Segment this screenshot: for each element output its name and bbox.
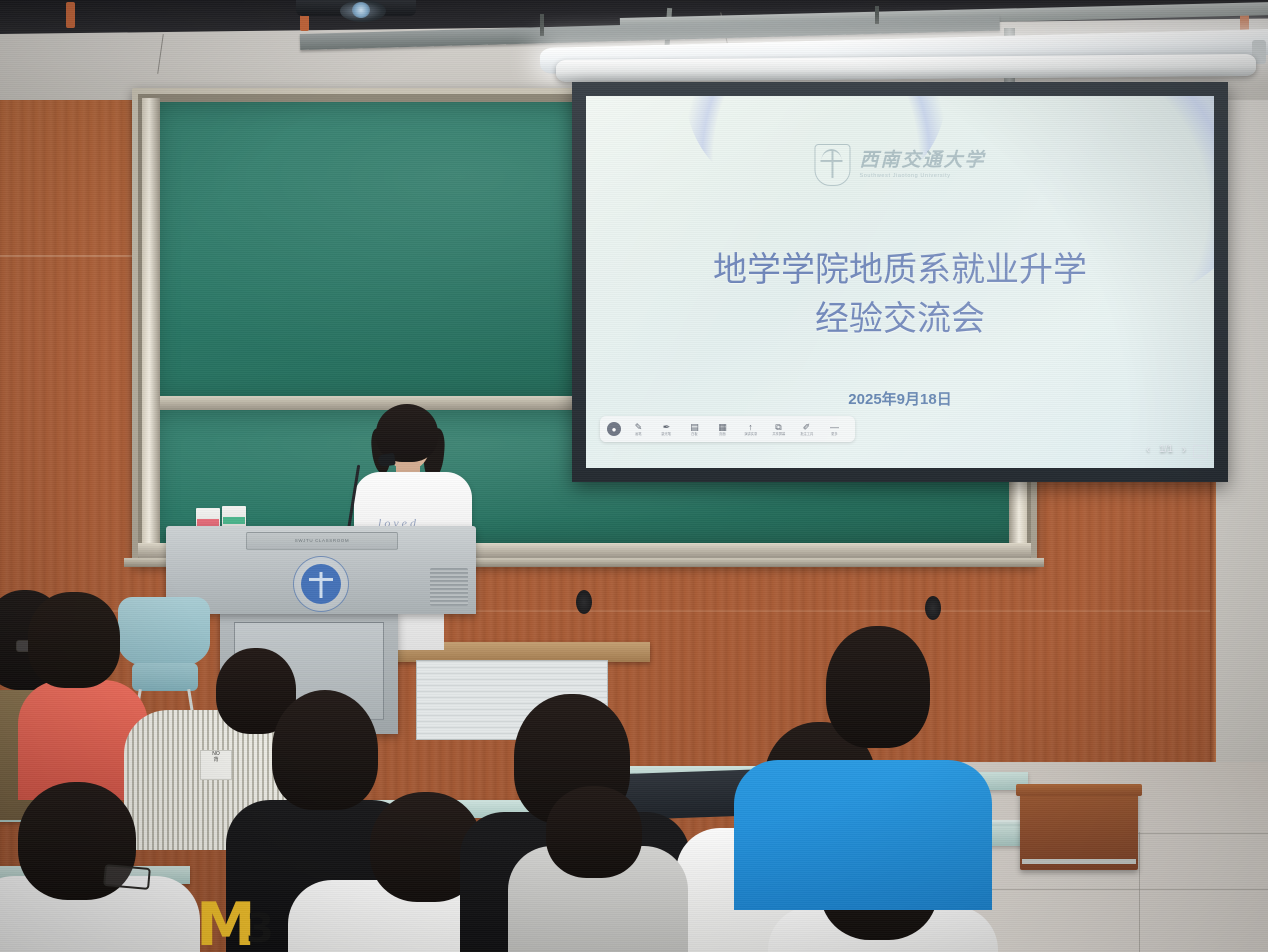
laser-pointer-icon: ✒ <box>663 422 671 432</box>
toolbar-label-4: 演讲实录 <box>744 432 757 436</box>
student-head <box>826 626 930 748</box>
student-tag: NO背 <box>200 750 232 780</box>
projector-glow <box>352 2 370 18</box>
chalk-box-band <box>197 519 219 526</box>
share-screen-icon: ⧉ <box>775 422 781 432</box>
chalk-box <box>222 506 246 528</box>
pages-icon: ▦ <box>718 422 727 432</box>
slide-title-line1: 地学学院地质系就业升学 <box>586 246 1214 295</box>
student-head <box>28 592 120 688</box>
wall-speaker-icon <box>576 590 592 614</box>
pen-icon: ✎ <box>635 422 643 432</box>
rail-hanger <box>875 6 879 24</box>
student-head <box>546 786 642 878</box>
presentation-toolbar[interactable]: ● ✎ 画笔 ✒ 激光笔 ▤ 白板 ▦ 页面 ↑ <box>600 416 855 442</box>
toolbar-item-6[interactable]: ✐ 批注工具 <box>793 422 820 436</box>
chair-back <box>118 597 210 669</box>
next-slide-icon[interactable]: › <box>1182 442 1186 456</box>
beam-clip <box>66 2 75 28</box>
exit-presentation-icon[interactable] <box>1193 445 1208 458</box>
classroom-photo: 西南交通大学 Southwest Jiaotong University 地学学… <box>0 0 1268 952</box>
student-torso <box>734 760 992 910</box>
toolbar-item-0[interactable]: ✎ 画笔 <box>625 422 652 436</box>
person-icon[interactable]: ● <box>607 422 621 436</box>
crate-lid <box>1016 784 1142 796</box>
toolbar-label-2: 白板 <box>691 432 697 436</box>
chair-seat <box>132 663 198 691</box>
logo-name-cn: 西南交通大学 <box>859 151 985 170</box>
lectern-emblem <box>293 556 349 612</box>
rail-hanger <box>540 14 544 36</box>
more-icon: — <box>830 422 839 432</box>
lectern-vent <box>430 568 468 606</box>
crate-strip <box>1022 859 1136 864</box>
toolbar-label-6: 批注工具 <box>800 432 813 436</box>
glasses-icon <box>103 864 151 890</box>
toolbar-label-5: 共享屏幕 <box>772 432 785 436</box>
emblem-cross <box>320 572 323 598</box>
cable <box>157 34 164 74</box>
emblem-disc <box>301 564 341 604</box>
blackboard-rail-left <box>142 98 160 550</box>
floor-tile-line <box>1139 832 1140 952</box>
logo-name-en: Southwest Jiaotong University <box>859 173 985 179</box>
slide-date: 2025年9月18日 <box>586 388 1214 409</box>
slide-pager[interactable]: ‹ 1/1 › <box>1146 442 1186 456</box>
toolbar-item-2[interactable]: ▤ 白板 <box>681 422 708 436</box>
annotate-icon: ✐ <box>803 422 811 432</box>
crest-icon <box>814 144 850 186</box>
shirt-graphic: 3 <box>246 906 274 952</box>
toolbar-label-0: 画笔 <box>635 432 641 436</box>
projected-slide: 西南交通大学 Southwest Jiaotong University 地学学… <box>586 96 1214 468</box>
slide-title-line2: 经验交流会 <box>586 295 1214 344</box>
crest-arc <box>821 149 841 160</box>
university-logo: 西南交通大学 Southwest Jiaotong University <box>814 144 985 186</box>
chalk-box-band <box>223 517 245 524</box>
toolbar-item-4[interactable]: ↑ 演讲实录 <box>737 422 764 436</box>
wooden-crate <box>1020 790 1138 870</box>
slide-title: 地学学院地质系就业升学 经验交流会 <box>586 246 1214 345</box>
page-indicator: 1/1 <box>1159 444 1173 455</box>
wall-speaker-icon <box>925 596 941 620</box>
student-head <box>272 690 378 810</box>
microphone-icon <box>377 453 396 467</box>
projection-screen-frame: 西南交通大学 Southwest Jiaotong University 地学学… <box>572 82 1228 482</box>
toolbar-item-1[interactable]: ✒ 激光笔 <box>653 422 680 436</box>
toolbar-label-7: 更多 <box>831 432 837 436</box>
toolbar-item-5[interactable]: ⧉ 共享屏幕 <box>765 422 792 436</box>
emblem-bar <box>309 578 333 581</box>
toolbar-label-1: 激光笔 <box>662 432 672 436</box>
toolbar-label-3: 页面 <box>719 432 725 436</box>
prev-slide-icon[interactable]: ‹ <box>1146 442 1150 456</box>
record-icon: ↑ <box>748 422 753 432</box>
lectern-plate: SWJTU CLASSROOM <box>246 532 398 550</box>
whiteboard-icon: ▤ <box>690 422 699 432</box>
toolbar-item-3[interactable]: ▦ 页面 <box>709 422 736 436</box>
toolbar-item-7[interactable]: — 更多 <box>821 422 848 436</box>
